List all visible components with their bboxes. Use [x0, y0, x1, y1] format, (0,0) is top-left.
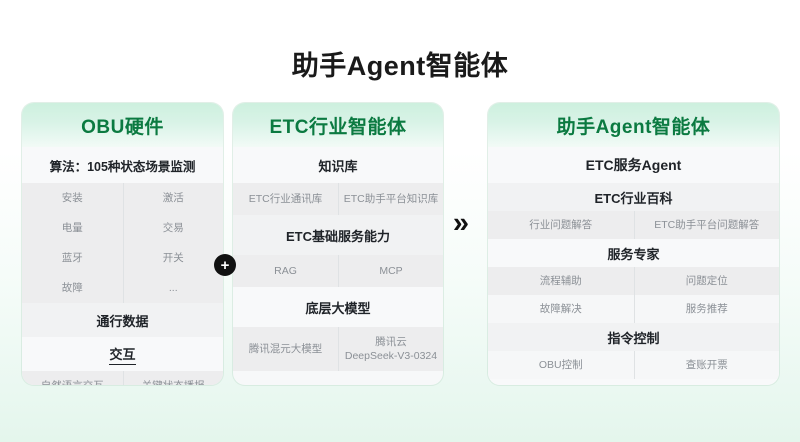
row-etc-encyclopedia: ETC行业百科 — [488, 183, 779, 211]
cell-fault[interactable]: 故障 — [22, 273, 123, 303]
card-title-etc-industry-agent: ETC行业智能体 — [233, 103, 443, 147]
row-algorithm: 算法：105种状态场景监测 — [22, 147, 223, 183]
cell-install[interactable]: 安装 — [22, 183, 123, 213]
card-assistant-agent[interactable]: 助手Agent智能体 ETC服务Agent ETC行业百科 行业问题解答 ETC… — [488, 103, 779, 385]
row-process-problem: 流程辅助 问题定位 — [488, 267, 779, 295]
cell-etc-industry-library[interactable]: ETC行业通讯库 — [233, 183, 338, 215]
chevron-right-icon: » — [448, 206, 474, 240]
row-knowledge-base: 知识库 — [233, 147, 443, 183]
cell-switch[interactable]: 开关 — [123, 243, 224, 273]
cell-industry-qa[interactable]: 行业问题解答 — [488, 211, 634, 239]
row-foundation-model: 底层大模型 — [233, 287, 443, 327]
cell-tencent-cloud-line2: DeepSeek-V3-0324 — [345, 349, 437, 363]
row-traffic-data: 通行数据 — [22, 303, 223, 337]
row-interaction: 交互 — [22, 337, 223, 371]
cell-problem-locate[interactable]: 问题定位 — [634, 267, 780, 295]
row-knowledge-libraries: ETC行业通讯库 ETC助手平台知识库 — [233, 183, 443, 215]
cell-process-assist[interactable]: 流程辅助 — [488, 267, 634, 295]
cell-mcp[interactable]: MCP — [338, 255, 443, 287]
row-model-vendors: 腾讯混元大模型 腾讯云 DeepSeek-V3-0324 — [233, 327, 443, 371]
card-etc-industry-agent[interactable]: ETC行业智能体 知识库 ETC行业通讯库 ETC助手平台知识库 ETC基础服务… — [233, 103, 443, 385]
cell-battery[interactable]: 电量 — [22, 213, 123, 243]
row-voice-broadcast: 自然语言交互 关键状态播报 — [22, 371, 223, 385]
row-command-control: 指令控制 — [488, 323, 779, 351]
cell-more[interactable]: ... — [123, 273, 224, 303]
page-title: 助手Agent智能体 — [0, 44, 800, 83]
row-obu-billing: OBU控制 查账开票 — [488, 351, 779, 379]
cell-platform-qa[interactable]: ETC助手平台问题解答 — [634, 211, 780, 239]
row-fault-more: 故障 ... — [22, 273, 223, 303]
cell-fault-resolve[interactable]: 故障解决 — [488, 295, 634, 323]
cell-bluetooth[interactable]: 蓝牙 — [22, 243, 123, 273]
row-service-expert: 服务专家 — [488, 239, 779, 267]
row-etc-scene-expansion-agent: ETC场景拓展Agent — [488, 379, 779, 385]
cell-service-recommend[interactable]: 服务推荐 — [634, 295, 780, 323]
row-rag-mcp: RAG MCP — [233, 255, 443, 287]
row-qa-pair: 行业问题解答 ETC助手平台问题解答 — [488, 211, 779, 239]
plus-icon: + — [214, 254, 236, 276]
cell-natural-language-interaction[interactable]: 自然语言交互 — [22, 371, 123, 385]
architecture-diagram: OBU硬件 算法：105种状态场景监测 安装 激活 电量 交易 蓝牙 开关 故障… — [0, 103, 800, 388]
row-install-activate: 安装 激活 — [22, 183, 223, 213]
cell-check-invoice[interactable]: 查账开票 — [634, 351, 780, 379]
cell-obu-control[interactable]: OBU控制 — [488, 351, 634, 379]
cell-key-status-broadcast[interactable]: 关键状态播报 — [123, 371, 224, 385]
card-etc-industry-agent-rows: 知识库 ETC行业通讯库 ETC助手平台知识库 ETC基础服务能力 RAG MC… — [233, 147, 443, 371]
cell-transaction[interactable]: 交易 — [123, 213, 224, 243]
cell-hunyuan-model[interactable]: 腾讯混元大模型 — [233, 327, 338, 371]
cell-tencent-cloud-deepseek[interactable]: 腾讯云 DeepSeek-V3-0324 — [338, 327, 443, 371]
card-assistant-agent-rows: ETC服务Agent ETC行业百科 行业问题解答 ETC助手平台问题解答 服务… — [488, 147, 779, 385]
row-etc-service-agent: ETC服务Agent — [488, 147, 779, 183]
row-battery-transaction: 电量 交易 — [22, 213, 223, 243]
row-fault-recommend: 故障解决 服务推荐 — [488, 295, 779, 323]
card-title-assistant-agent: 助手Agent智能体 — [488, 103, 779, 147]
cell-activate[interactable]: 激活 — [123, 183, 224, 213]
row-basic-service-ability: ETC基础服务能力 — [233, 215, 443, 255]
cell-rag[interactable]: RAG — [233, 255, 338, 287]
card-obu-hardware-rows: 算法：105种状态场景监测 安装 激活 电量 交易 蓝牙 开关 故障 ... 通… — [22, 147, 223, 385]
cell-etc-platform-knowledge[interactable]: ETC助手平台知识库 — [338, 183, 443, 215]
card-title-obu-hardware: OBU硬件 — [22, 103, 223, 147]
row-bluetooth-switch: 蓝牙 开关 — [22, 243, 223, 273]
card-obu-hardware[interactable]: OBU硬件 算法：105种状态场景监测 安装 激活 电量 交易 蓝牙 开关 故障… — [22, 103, 223, 385]
cell-tencent-cloud-line1: 腾讯云 — [375, 335, 407, 349]
